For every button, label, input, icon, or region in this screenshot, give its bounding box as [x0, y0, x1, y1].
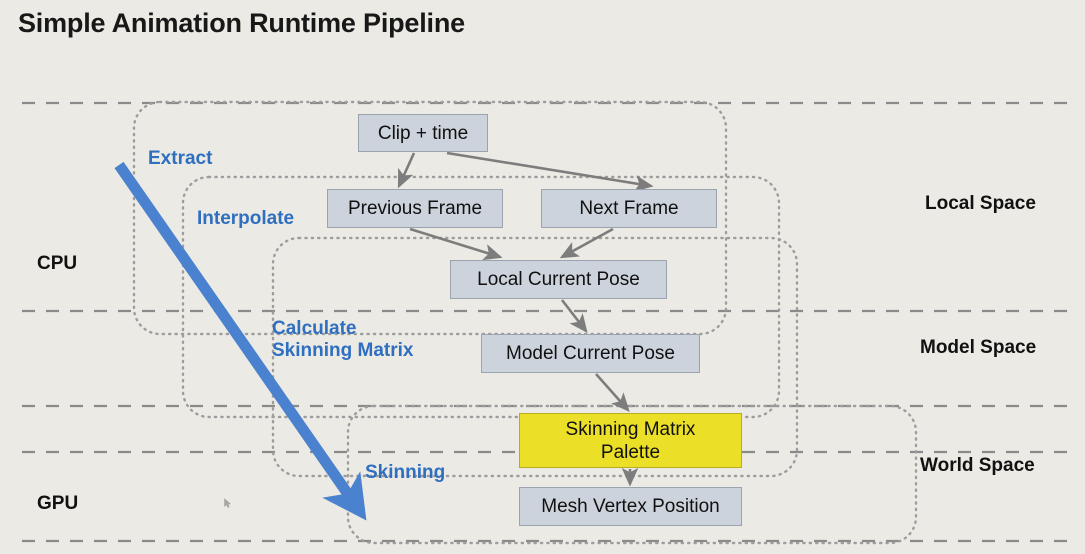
process-box-model-current-pose: Model Current Pose	[481, 334, 700, 373]
side-label-cpu: CPU	[37, 253, 77, 275]
process-box-skinning-matrix-palette: Skinning Matrix Palette	[519, 413, 742, 468]
process-box-mesh-vertex-position: Mesh Vertex Position	[519, 487, 742, 526]
stage-label-calculate: Calculate Skinning Matrix	[272, 318, 413, 362]
process-box-local-current-pose: Local Current Pose	[450, 260, 667, 299]
side-label-local-space: Local Space	[925, 193, 1036, 215]
side-label-gpu: GPU	[37, 493, 78, 515]
side-label-world-space: World Space	[920, 455, 1035, 477]
stage-label-interpolate: Interpolate	[197, 208, 294, 230]
side-label-model-space: Model Space	[920, 337, 1036, 359]
slide-canvas: Simple Animation Runtime Pipeline Clip +…	[0, 0, 1085, 554]
mouse-cursor-icon	[224, 498, 232, 508]
process-box-previous-frame: Previous Frame	[327, 189, 503, 228]
process-box-next-frame: Next Frame	[541, 189, 717, 228]
stage-label-skinning: Skinning	[365, 462, 445, 484]
stage-label-extract: Extract	[148, 148, 212, 170]
process-box-clip-time: Clip + time	[358, 114, 488, 152]
